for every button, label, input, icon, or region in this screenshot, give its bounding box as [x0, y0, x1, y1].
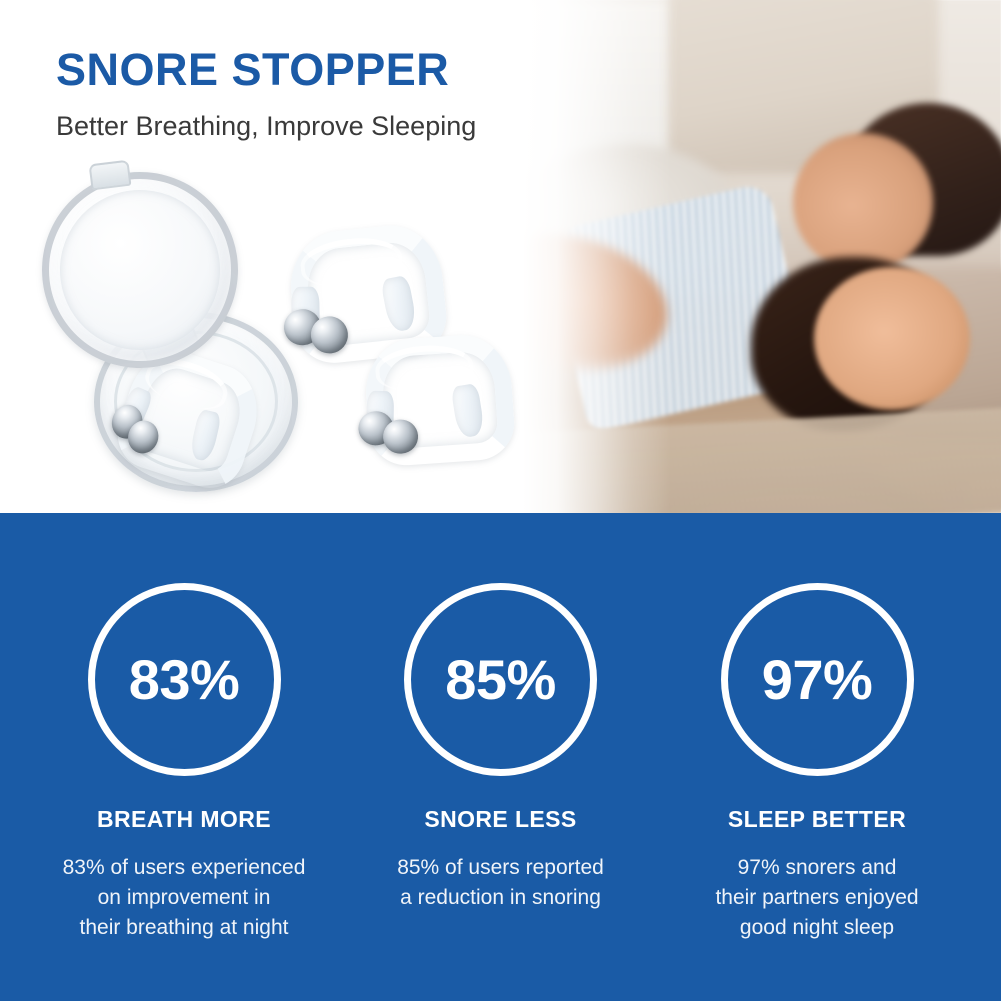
stat-circle: 97%	[721, 583, 914, 776]
stat-value: 97%	[762, 652, 873, 708]
page-subtitle: Better Breathing, Improve Sleeping	[56, 111, 526, 142]
stat-desc-line: good night sleep	[715, 913, 918, 943]
clip-arm-right	[450, 383, 484, 438]
stat-value: 85%	[445, 652, 556, 708]
sleeping-couple-photo	[481, 0, 1001, 513]
stats-row: 83% BREATH MORE 83% of users experienced…	[0, 513, 1001, 943]
stat-item-breath-more: 83% BREATH MORE 83% of users experienced…	[34, 583, 334, 943]
page-title: SNORE STOPPER	[56, 46, 526, 93]
stat-desc-line: a reduction in snoring	[397, 883, 604, 913]
nose-clip-lower	[348, 331, 495, 452]
case-lid-inner	[51, 181, 229, 359]
stat-circle: 83%	[88, 583, 281, 776]
clip-band	[285, 221, 450, 367]
nose-clip-upper	[270, 221, 430, 354]
stat-desc-line: 83% of users experienced	[63, 853, 306, 883]
magnet-ball-left	[357, 410, 394, 447]
clip-arm-left	[291, 287, 320, 342]
stat-item-snore-less: 85% SNORE LESS 85% of users reported a r…	[351, 583, 651, 943]
stat-description: 85% of users reported a reduction in sno…	[397, 853, 604, 913]
stat-description: 83% of users experienced on improvement …	[63, 853, 306, 943]
stat-desc-line: 97% snorers and	[715, 853, 918, 883]
stat-desc-line: 85% of users reported	[397, 853, 604, 883]
magnet-ball-right	[382, 418, 419, 455]
stat-heading: SNORE LESS	[424, 806, 576, 833]
clip-highlight	[298, 233, 405, 290]
stat-value: 83%	[129, 652, 240, 708]
hero-section: SNORE STOPPER Better Breathing, Improve …	[0, 0, 1001, 513]
product-infographic: SNORE STOPPER Better Breathing, Improve …	[0, 0, 1001, 1001]
stat-desc-line: their partners enjoyed	[715, 883, 918, 913]
product-image-group	[0, 150, 520, 513]
clip-arm-left	[366, 390, 393, 442]
stats-section: 83% BREATH MORE 83% of users experienced…	[0, 513, 1001, 1001]
headline-block: SNORE STOPPER Better Breathing, Improve …	[56, 46, 526, 142]
magnet-ball-left	[283, 307, 324, 347]
magnet-ball-right	[309, 315, 350, 355]
clip-highlight	[374, 343, 474, 394]
stat-item-sleep-better: 97% SLEEP BETTER 97% snorers and their p…	[667, 583, 967, 943]
clip-band	[362, 332, 516, 468]
clip-arm-right	[380, 275, 418, 334]
stat-desc-line: their breathing at night	[63, 913, 306, 943]
photo-front-sleeper-head	[814, 267, 970, 411]
case-latch-tab	[89, 160, 132, 191]
stat-description: 97% snorers and their partners enjoyed g…	[715, 853, 918, 943]
stat-desc-line: on improvement in	[63, 883, 306, 913]
stat-heading: SLEEP BETTER	[728, 806, 906, 833]
stat-heading: BREATH MORE	[97, 806, 271, 833]
photo-back-sleeper-head	[793, 133, 933, 272]
stat-circle: 85%	[404, 583, 597, 776]
storage-case	[38, 172, 288, 482]
